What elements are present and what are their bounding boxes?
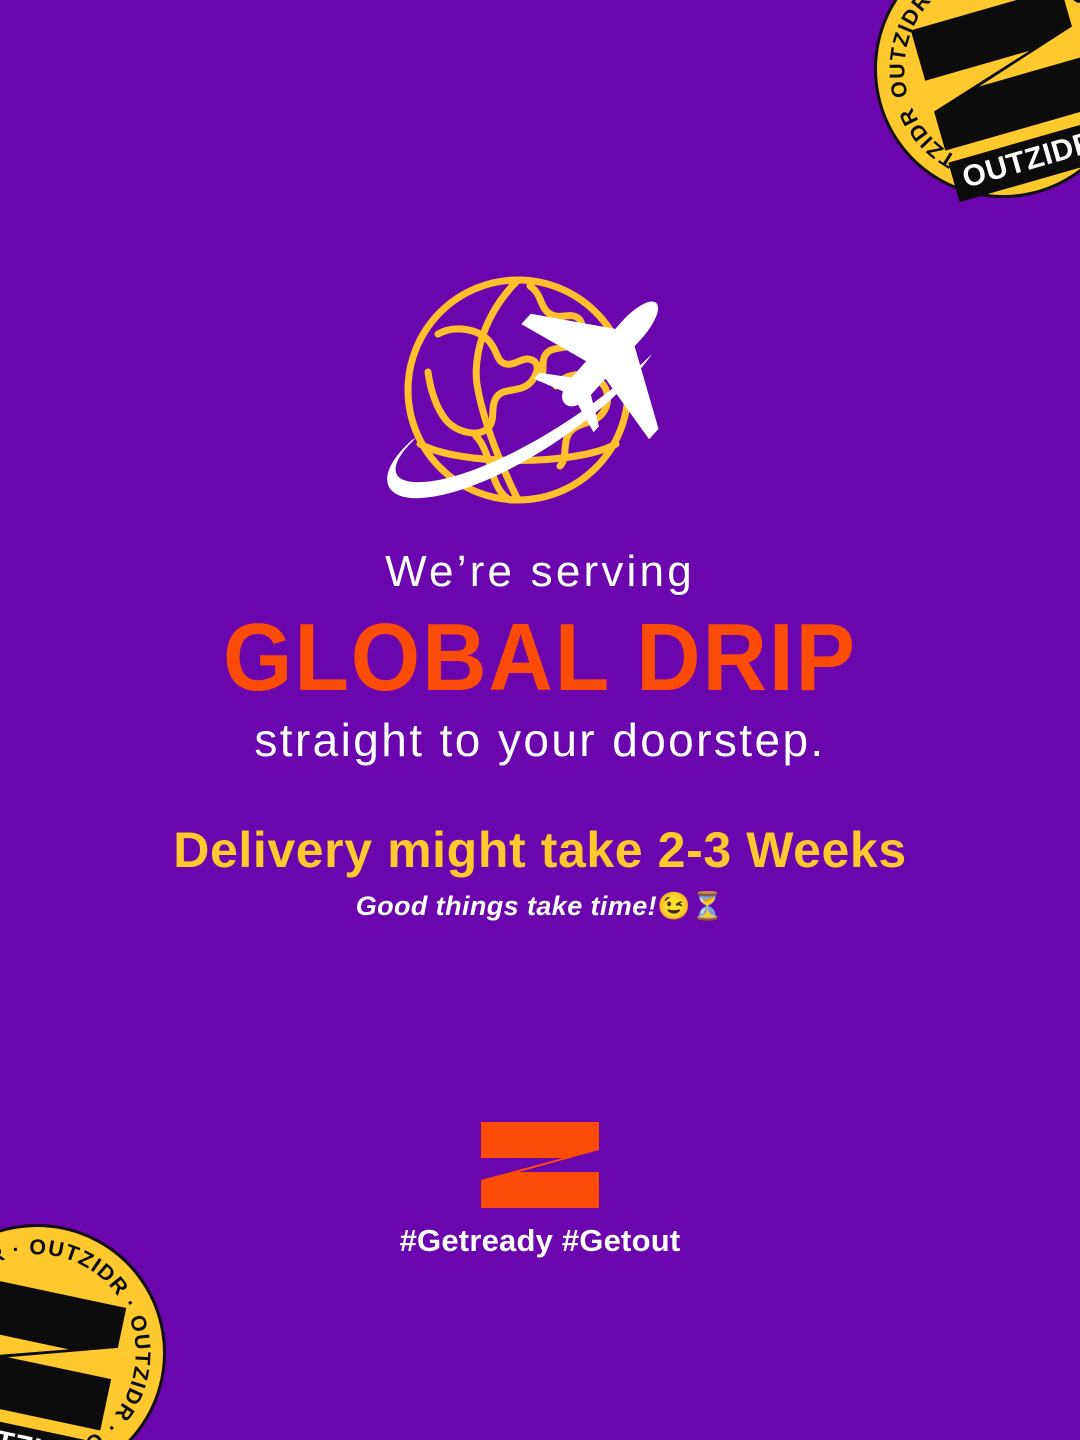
copy-block: We’re serving GLOBAL DRIP straight to yo…	[0, 548, 1080, 923]
delivery-notice: Delivery might take 2-3 Weeks	[0, 823, 1080, 878]
brand-logo	[479, 1120, 601, 1210]
promo-poster: We’re serving GLOBAL DRIP straight to yo…	[0, 0, 1080, 1440]
eyebrow-text: We’re serving	[0, 548, 1080, 596]
footer-brand: #Getready #Getout	[0, 1120, 1080, 1258]
globe-airplane-icon	[360, 268, 720, 518]
wink-face-emoji: 😉	[657, 891, 691, 921]
badge-z-mark	[0, 1272, 129, 1434]
airplane-icon	[500, 268, 720, 463]
headline-text: GLOBAL DRIP	[38, 610, 1042, 706]
outzidr-z-logo-icon	[479, 1120, 601, 1210]
hero-graphic	[0, 268, 1080, 518]
subnote-text: Good things take time!	[356, 891, 657, 921]
hourglass-emoji: ⏳	[691, 891, 725, 921]
sticker-badge-top-right: OUTZIDR · OUTZIDR · OUTZIDR · OUTZIDR · …	[843, 0, 1080, 229]
hashtags-text: #Getready #Getout	[0, 1224, 1080, 1258]
subhead-text: straight to your doorstep.	[0, 716, 1080, 766]
outzidr-z-logo-icon	[0, 1272, 129, 1434]
subnote-line: Good things take time!😉⏳	[0, 890, 1080, 922]
